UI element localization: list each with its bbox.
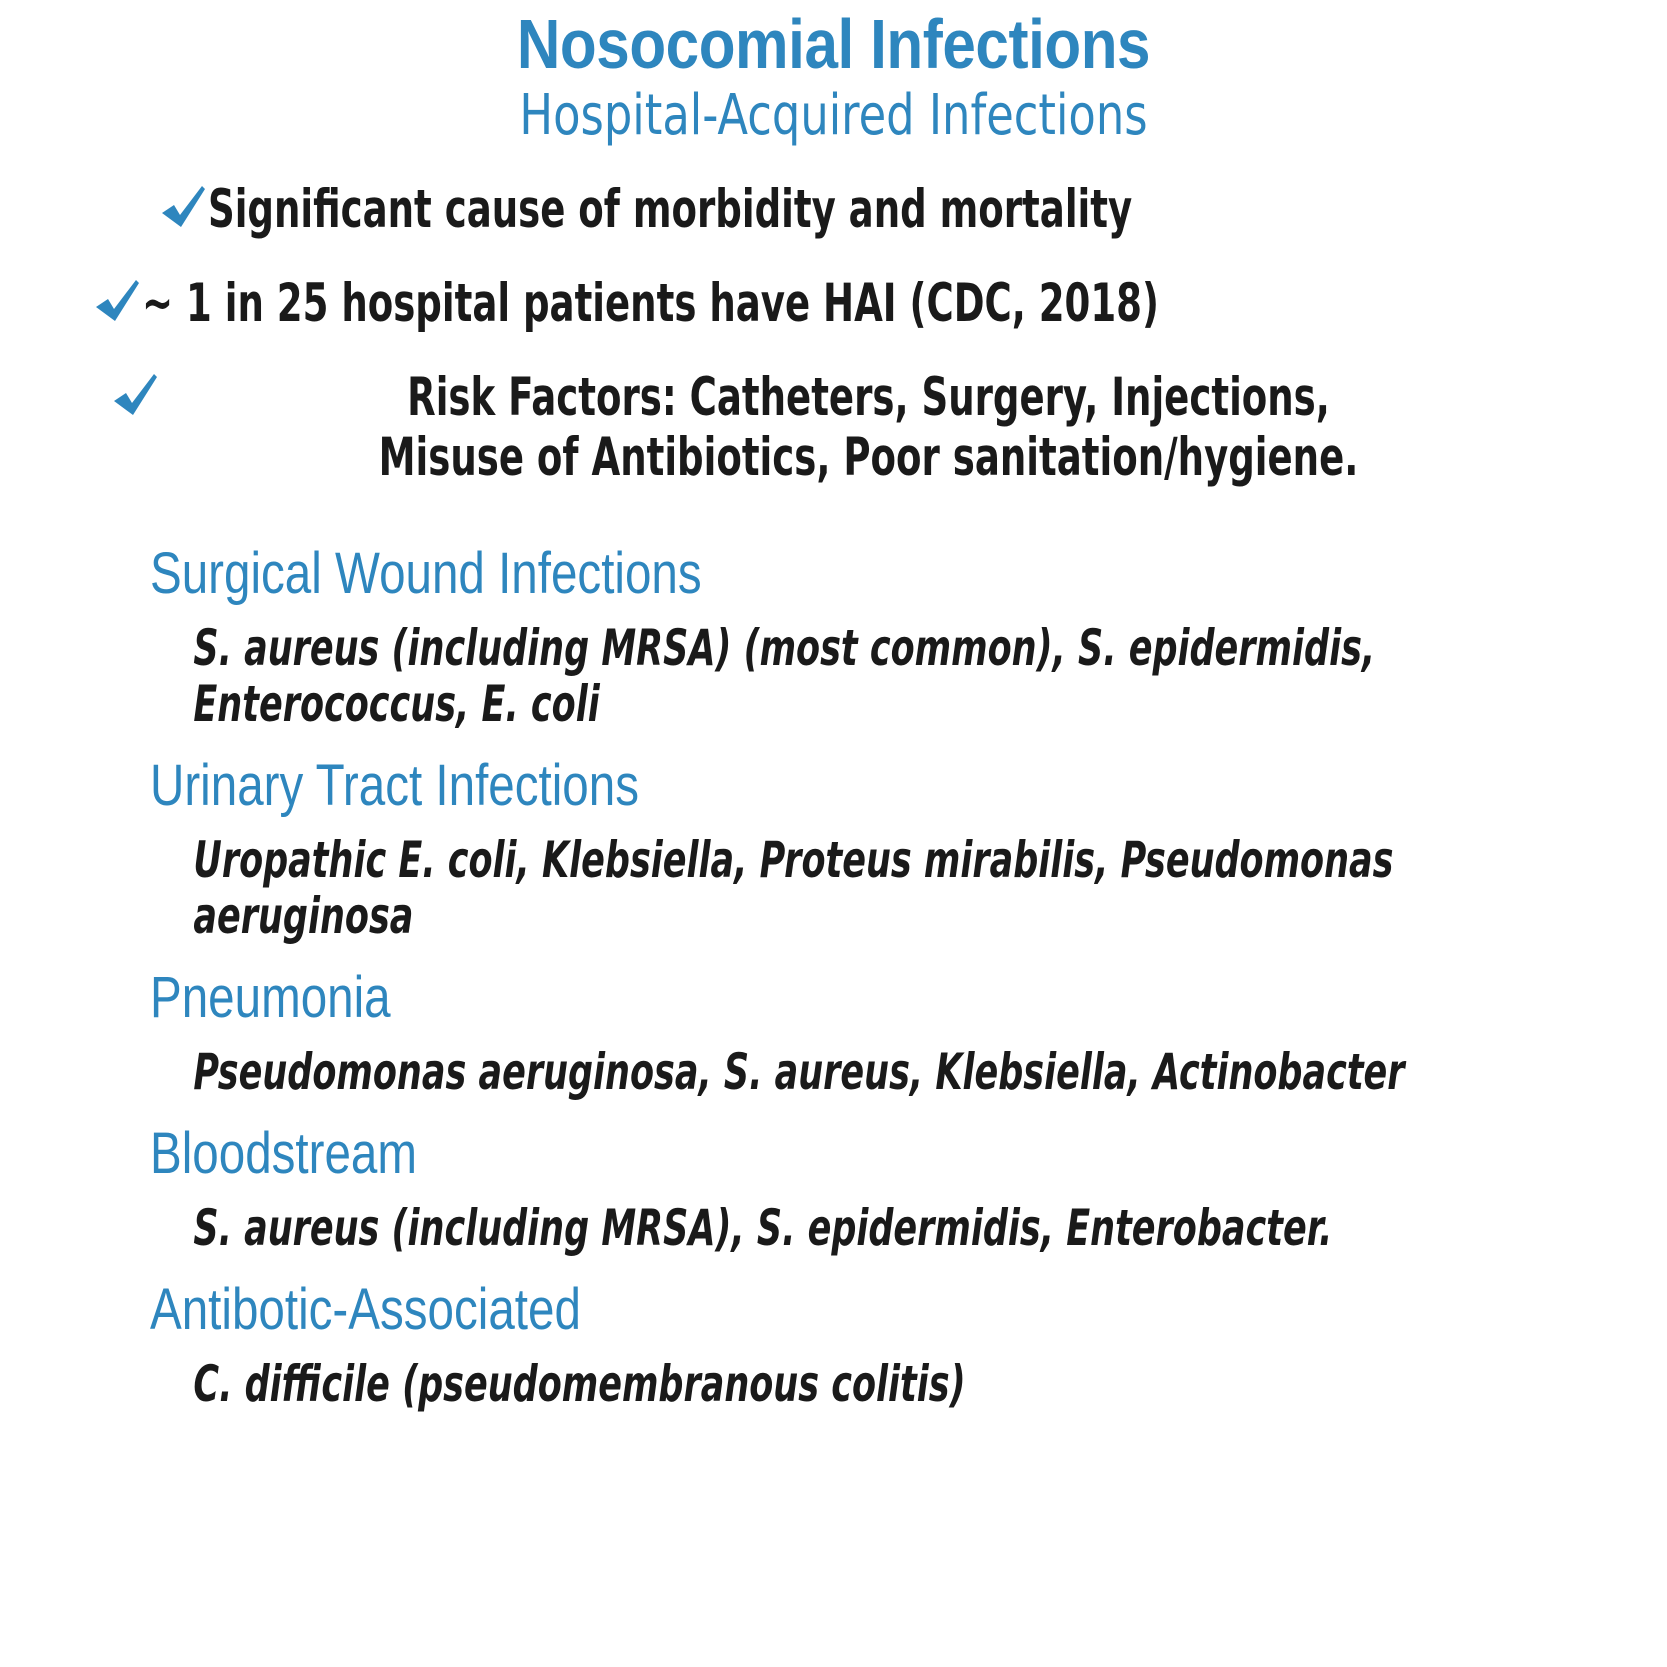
list-item-label: ~ 1 in 25 hospital patients have HAI (CD… [142,274,1159,334]
slide-root: Nosocomial Infections Hospital-Acquired … [0,0,1667,1667]
list-item-label: Significant cause of morbidity and morta… [208,180,1132,240]
list-item: ~ 1 in 25 hospital patients have HAI (CD… [110,274,1577,334]
title-block: Nosocomial Infections Hospital-Acquired … [0,0,1667,148]
checkmark-icon [158,184,206,240]
list-item-label: Risk Factors: Catheters, Surgery, Inject… [373,368,1365,488]
section-bloodstream: Bloodstream S. aureus (including MRSA), … [150,1122,1667,1256]
section-body: Uropathic E. coli, Klebsiella, Proteus m… [150,832,1425,944]
section-body: S. aureus (including MRSA), S. epidermid… [150,1200,1635,1256]
section-heading: Bloodstream [150,1122,1394,1186]
list-item: Significant cause of morbidity and morta… [110,180,1577,240]
section-body: C. difficile (pseudomembranous colitis) [150,1356,1635,1412]
section-pneumonia: Pneumonia Pseudomonas aeruginosa, S. aur… [150,966,1667,1100]
section-body: S. aureus (including MRSA) (most common)… [150,620,1425,732]
section-body: Pseudomonas aeruginosa, S. aureus, Klebs… [150,1044,1635,1100]
section-urinary-tract-infections: Urinary Tract Infections Uropathic E. co… [150,754,1667,944]
bullet-list: Significant cause of morbidity and morta… [0,180,1667,488]
section-heading: Antibotic-Associated [150,1278,1394,1342]
section-heading: Pneumonia [150,966,1394,1030]
checkmark-icon [92,278,140,334]
checkmark-icon [110,372,158,428]
section-surgical-wound-infections: Surgical Wound Infections S. aureus (inc… [150,542,1667,732]
section-heading: Surgical Wound Infections [150,542,1394,606]
section-heading: Urinary Tract Infections [150,754,1394,818]
page-subtitle: Hospital-Acquired Infections [167,84,1501,148]
section-antibotic-associated: Antibotic-Associated C. difficile (pseud… [150,1278,1667,1412]
page-title: Nosocomial Infections [117,6,1551,82]
list-item: Risk Factors: Catheters, Surgery, Inject… [110,368,1577,488]
section-list: Surgical Wound Infections S. aureus (inc… [0,542,1667,1412]
